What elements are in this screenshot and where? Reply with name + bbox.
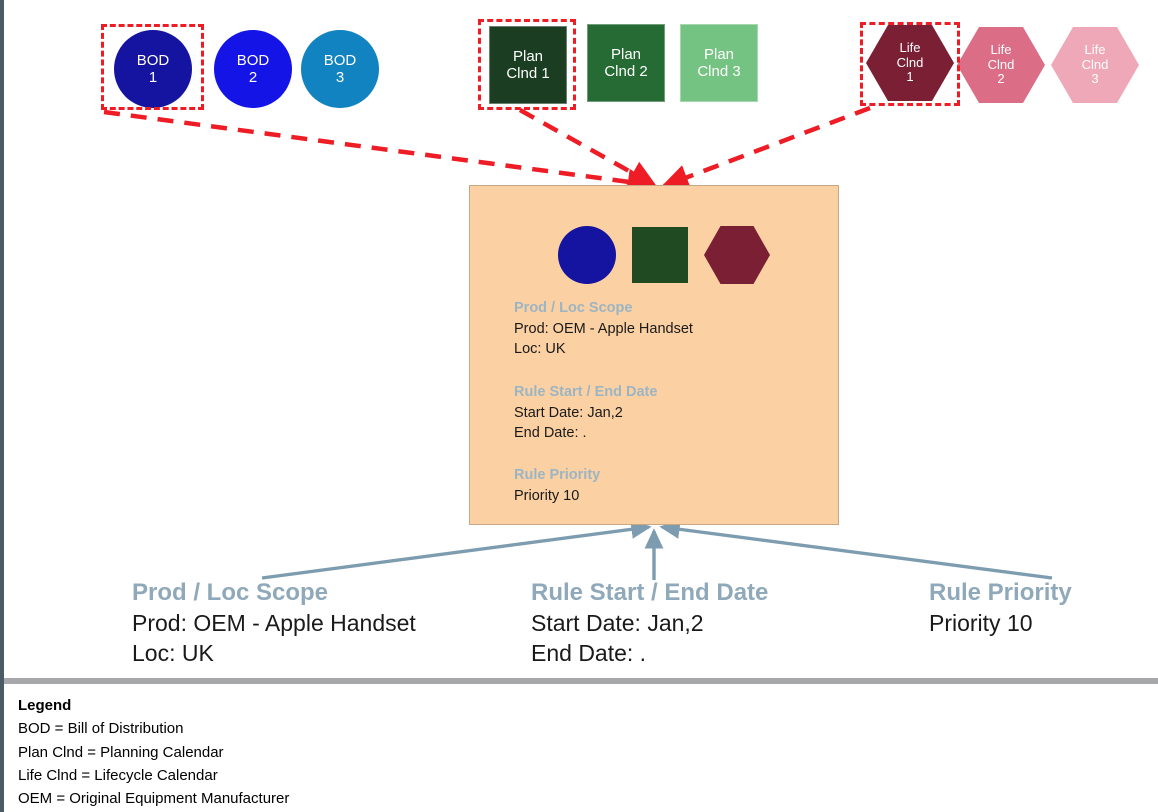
panel-field-heading: Prod / Loc Scope — [514, 298, 814, 319]
panel-field-heading: Rule Priority — [514, 465, 814, 486]
panel-field-heading: Rule Start / End Date — [514, 382, 814, 403]
node-life-clnd-2[interactable]: Life Clnd 2 — [957, 27, 1045, 103]
panel-plan-calendar-square-icon — [632, 227, 688, 283]
callout-line: End Date: . — [531, 639, 768, 669]
legend: Legend BOD = Bill of Distribution Plan C… — [18, 694, 289, 810]
node-life-clnd-3[interactable]: Life Clnd 3 — [1051, 27, 1139, 103]
panel-life-calendar-hexagon-icon — [704, 226, 770, 284]
callout-rule-priority: Rule Priority Priority 10 — [929, 578, 1072, 639]
arrow-life1-to-panel — [664, 108, 870, 186]
legend-divider — [4, 678, 1158, 684]
arrow-bod1-to-panel — [104, 112, 652, 185]
node-bod-2[interactable]: BOD 2 — [214, 30, 292, 108]
callout-prod-loc-scope: Prod / Loc Scope Prod: OEM - Apple Hands… — [132, 578, 416, 669]
selection-box-life-clnd-1 — [860, 22, 960, 106]
callout-line: Loc: UK — [132, 639, 416, 669]
arrow-plan1-to-panel — [520, 110, 654, 185]
selection-box-plan-clnd-1 — [478, 19, 576, 110]
node-life-clnd-2-line3: 2 — [997, 72, 1004, 87]
node-plan-clnd-3-line2: Clnd 3 — [697, 63, 740, 80]
node-plan-clnd-2[interactable]: Plan Clnd 2 — [587, 24, 665, 102]
node-life-clnd-3-line1: Life — [1085, 43, 1106, 58]
callout-heading: Rule Start / End Date — [531, 578, 768, 609]
callout-line: Prod: OEM - Apple Handset — [132, 609, 416, 639]
selection-box-bod-1 — [101, 24, 204, 110]
legend-entry-plan-clnd: Plan Clnd = Planning Calendar — [18, 741, 289, 764]
arrow-scope-callout-to-panel — [262, 527, 649, 578]
node-bod-2-line1: BOD — [237, 52, 270, 69]
legend-title: Legend — [18, 694, 289, 717]
panel-field-value: Prod: OEM - Apple Handset — [514, 319, 814, 339]
legend-entry-life-clnd: Life Clnd = Lifecycle Calendar — [18, 764, 289, 787]
node-plan-clnd-2-line2: Clnd 2 — [604, 63, 647, 80]
panel-field-rule-start-end-date: Rule Start / End Date Start Date: Jan,2 … — [514, 382, 814, 444]
panel-field-prod-loc-scope: Prod / Loc Scope Prod: OEM - Apple Hands… — [514, 298, 814, 360]
panel-field-value: Priority 10 — [514, 486, 814, 506]
panel-bod-circle-icon — [558, 226, 616, 284]
node-life-clnd-2-line2: Clnd — [988, 58, 1015, 73]
callout-line: Priority 10 — [929, 609, 1072, 639]
node-life-clnd-3-line3: 3 — [1091, 72, 1098, 87]
callout-line: Start Date: Jan,2 — [531, 609, 768, 639]
node-bod-2-line2: 2 — [249, 69, 257, 86]
node-plan-clnd-2-line1: Plan — [611, 46, 641, 63]
node-bod-3-line2: 3 — [336, 69, 344, 86]
node-bod-3-line1: BOD — [324, 52, 357, 69]
panel-field-rule-priority: Rule Priority Priority 10 — [514, 465, 814, 506]
node-life-clnd-2-line1: Life — [991, 43, 1012, 58]
callout-heading: Rule Priority — [929, 578, 1072, 609]
node-plan-clnd-3-line1: Plan — [704, 46, 734, 63]
legend-entry-oem: OEM = Original Equipment Manufacturer — [18, 787, 289, 810]
panel-field-value: Start Date: Jan,2 — [514, 403, 814, 423]
legend-entry-bod: BOD = Bill of Distribution — [18, 717, 289, 740]
diagram-page: BOD 1 BOD 2 BOD 3 Plan Clnd 1 Plan Clnd … — [0, 0, 1158, 812]
node-bod-3[interactable]: BOD 3 — [301, 30, 379, 108]
panel-field-list: Prod / Loc Scope Prod: OEM - Apple Hands… — [514, 298, 814, 529]
rule-detail-panel[interactable]: Prod / Loc Scope Prod: OEM - Apple Hands… — [469, 185, 839, 525]
arrow-priority-callout-to-panel — [662, 527, 1052, 578]
node-plan-clnd-3[interactable]: Plan Clnd 3 — [680, 24, 758, 102]
callout-rule-start-end-date: Rule Start / End Date Start Date: Jan,2 … — [531, 578, 768, 669]
callout-heading: Prod / Loc Scope — [132, 578, 416, 609]
panel-field-value: Loc: UK — [514, 339, 814, 359]
node-life-clnd-3-line2: Clnd — [1082, 58, 1109, 73]
panel-field-value: End Date: . — [514, 423, 814, 443]
panel-shape-row — [558, 226, 770, 284]
